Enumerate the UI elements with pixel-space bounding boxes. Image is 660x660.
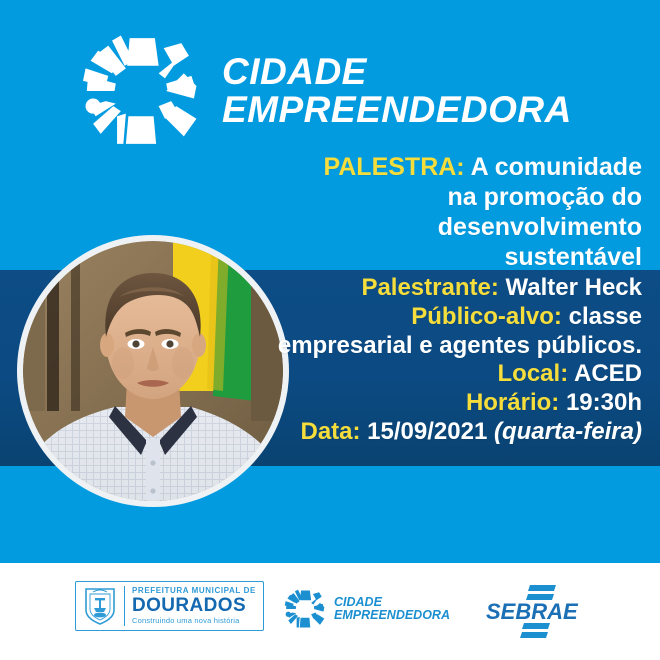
event-text-column: PALESTRA: A comunidade na promoção do de… (250, 152, 642, 447)
dourados-coat-of-arms-icon (83, 586, 117, 626)
detail-horario: Horário: 19:30h (250, 389, 642, 418)
header-brand-wordmark: CIDADE EMPREENDEDORA (222, 53, 572, 128)
footer-cidade-wordmark: CIDADE EMPREENDEDORA (334, 596, 450, 622)
details-block: Palestrante: Walter Heck Público-alvo: c… (250, 274, 642, 447)
detail-palestrante-label: Palestrante: (361, 274, 498, 301)
detail-data: Data: 15/09/2021 (quarta-feira) (250, 418, 642, 447)
portrait-illustration (23, 241, 283, 501)
detail-publico-alvo-label: Público-alvo: (411, 303, 562, 330)
event-poster: CIDADE EMPREENDEDORA (0, 0, 660, 660)
detail-publico-alvo-value: classe (569, 303, 642, 330)
header-logo: CIDADE EMPREENDEDORA (78, 26, 498, 156)
detail-publico-alvo-cont: empresarial e agentes públicos. (250, 332, 642, 361)
footer-logos: PREFEITURA MUNICIPAL DE DOURADOS Constru… (0, 563, 660, 660)
palestra-line-4: sustentável (250, 242, 642, 272)
dourados-text: PREFEITURA MUNICIPAL DE DOURADOS Constru… (132, 587, 256, 625)
footer-logo-dourados: PREFEITURA MUNICIPAL DE DOURADOS Constru… (75, 581, 264, 631)
palestra-line-2: na promoção do (250, 182, 642, 212)
dourados-line-2: DOURADOS (132, 596, 256, 616)
detail-local: Local: ACED (250, 360, 642, 389)
detail-data-value: 15/09/2021 (367, 418, 487, 445)
portrait-image (23, 241, 283, 501)
speaker-portrait (17, 235, 289, 507)
title-block: PALESTRA: A comunidade na promoção do de… (250, 152, 642, 272)
dourados-line-1: PREFEITURA MUNICIPAL DE (132, 587, 256, 595)
detail-data-label: Data: (300, 418, 360, 445)
detail-local-label: Local: (498, 360, 569, 387)
sebrae-wordmark-text: SEBRAE (486, 599, 579, 624)
detail-palestrante: Palestrante: Walter Heck (250, 274, 642, 303)
palestra-label: PALESTRA: (323, 153, 464, 181)
footer-divider (124, 586, 125, 626)
sebrae-bars-icon: SEBRAE (482, 583, 592, 639)
dourados-line-3: Construindo uma nova história (132, 617, 256, 625)
footer-cidade-line-2: EMPREENDEDORA (334, 609, 450, 622)
detail-data-weekday: (quarta-feira) (494, 418, 642, 445)
cidade-empreendedora-wheel-icon (283, 587, 327, 631)
detail-palestrante-value: Walter Heck (506, 274, 643, 301)
detail-horario-value: 19:30h (566, 389, 642, 416)
palestra-line-1: PALESTRA: A comunidade (250, 152, 642, 182)
brand-line-2: EMPREENDEDORA (222, 91, 572, 129)
footer-logo-sebrae: SEBRAE (482, 583, 592, 639)
cidade-empreendedora-wheel-icon (78, 28, 204, 154)
detail-publico-alvo: Público-alvo: classe (250, 303, 642, 332)
detail-horario-label: Horário: (466, 389, 559, 416)
detail-local-value: ACED (574, 360, 642, 387)
palestra-value: A comunidade (471, 153, 642, 181)
brand-line-1: CIDADE (222, 53, 572, 91)
footer-logo-cidade-empreendedora: CIDADE EMPREENDEDORA (283, 587, 450, 631)
palestra-line-3: desenvolvimento (250, 212, 642, 242)
